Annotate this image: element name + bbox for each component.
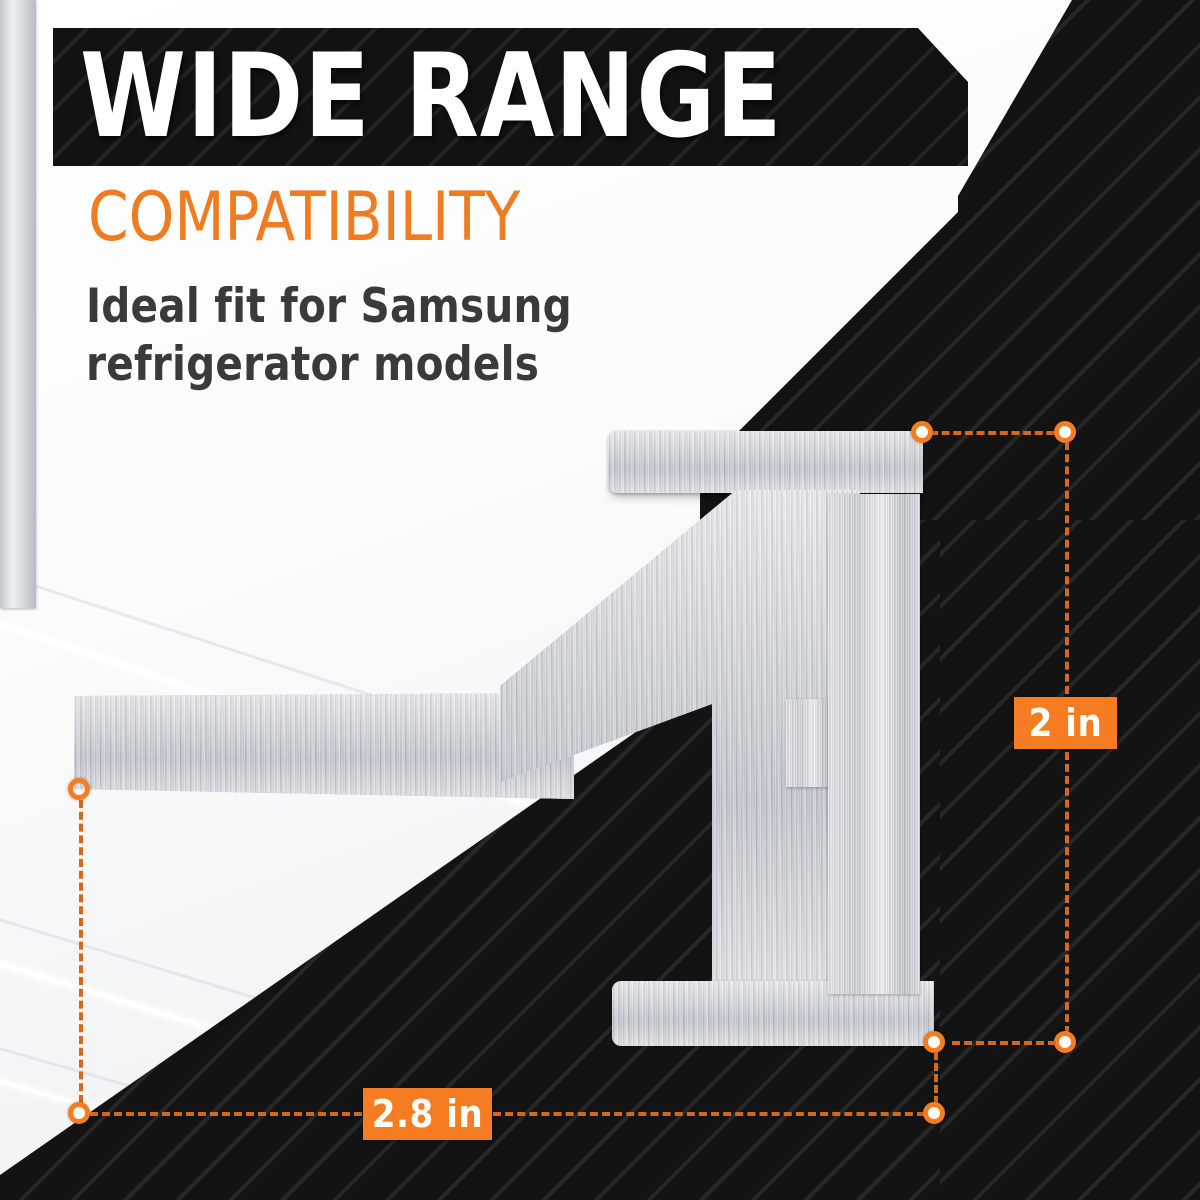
dimension-marker-bottom-center bbox=[923, 1102, 945, 1124]
dimension-line-bottom-right bbox=[952, 1041, 1056, 1045]
dimension-marker-foot-right bbox=[923, 1031, 945, 1053]
dimension-line-height-upper bbox=[1065, 442, 1069, 694]
dimension-marker-arm-left bbox=[68, 778, 90, 800]
bracket-plate-edge bbox=[0, 0, 36, 608]
bracket-side-tab bbox=[786, 699, 834, 787]
bracket-mounting-plate bbox=[828, 494, 920, 994]
dimension-marker-bottom-right bbox=[1054, 1031, 1076, 1053]
bracket-left-arm bbox=[74, 693, 574, 799]
dimension-label-width: 2.8 in bbox=[363, 1088, 492, 1140]
dimension-marker-top-right bbox=[1054, 421, 1076, 443]
product-image-bracket bbox=[0, 0, 1200, 1200]
dimension-label-height: 2 in bbox=[1014, 697, 1117, 749]
dimension-line-drop bbox=[934, 1052, 938, 1104]
dimension-marker-top-left bbox=[911, 421, 933, 443]
dimension-marker-bottom-left bbox=[68, 1102, 90, 1124]
dimension-line-width-drop bbox=[79, 800, 83, 1103]
product-infographic: WIDE RANGE COMPATIBILITY Ideal fit for S… bbox=[0, 0, 1200, 1200]
dimension-line-width-right bbox=[493, 1112, 925, 1116]
bracket-top-arm bbox=[608, 431, 923, 493]
dimension-line-width-left bbox=[90, 1112, 362, 1116]
dimension-line-top bbox=[930, 431, 1066, 435]
dimension-line-height-lower bbox=[1065, 752, 1069, 1034]
